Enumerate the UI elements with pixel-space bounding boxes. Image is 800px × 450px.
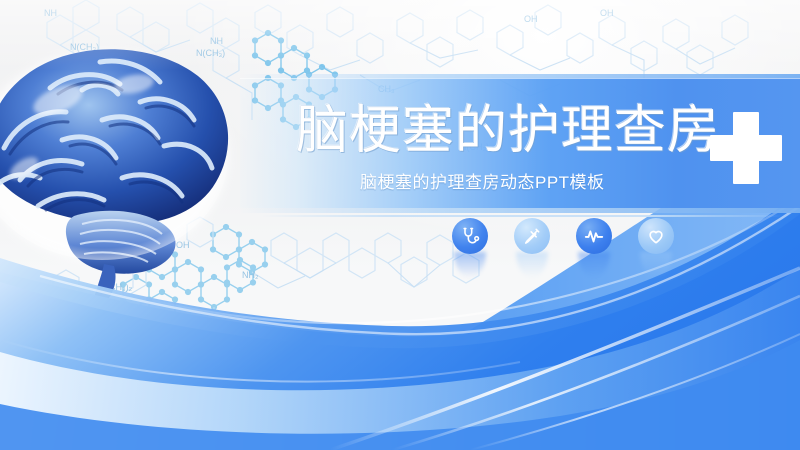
icon-item-syringe[interactable] — [514, 218, 550, 254]
banner-bottom-rule — [240, 208, 800, 213]
waves-svg — [0, 0, 800, 450]
medical-icon-row — [452, 218, 674, 254]
icon-item-stethoscope[interactable] — [452, 218, 488, 254]
syringe-icon[interactable] — [514, 218, 550, 254]
heart-icon[interactable] — [638, 218, 674, 254]
page-title: 脑梗塞的护理查房 — [296, 100, 720, 162]
icon-item-heart[interactable] — [638, 218, 674, 254]
wave-ribbons-artwork — [0, 0, 800, 450]
presentation-slide: NH N(CH₃) CH₃ NH CH₃ N(CH₃)₂ OH OH OH OH… — [0, 0, 800, 450]
heartbeat-pulse-icon[interactable] — [576, 218, 612, 254]
icon-item-heartbeat[interactable] — [576, 218, 612, 254]
medical-cross-icon — [710, 112, 782, 184]
stethoscope-icon[interactable] — [452, 218, 488, 254]
banner-underline — [262, 215, 782, 217]
page-subtitle: 脑梗塞的护理查房动态PPT模板 — [360, 172, 605, 194]
